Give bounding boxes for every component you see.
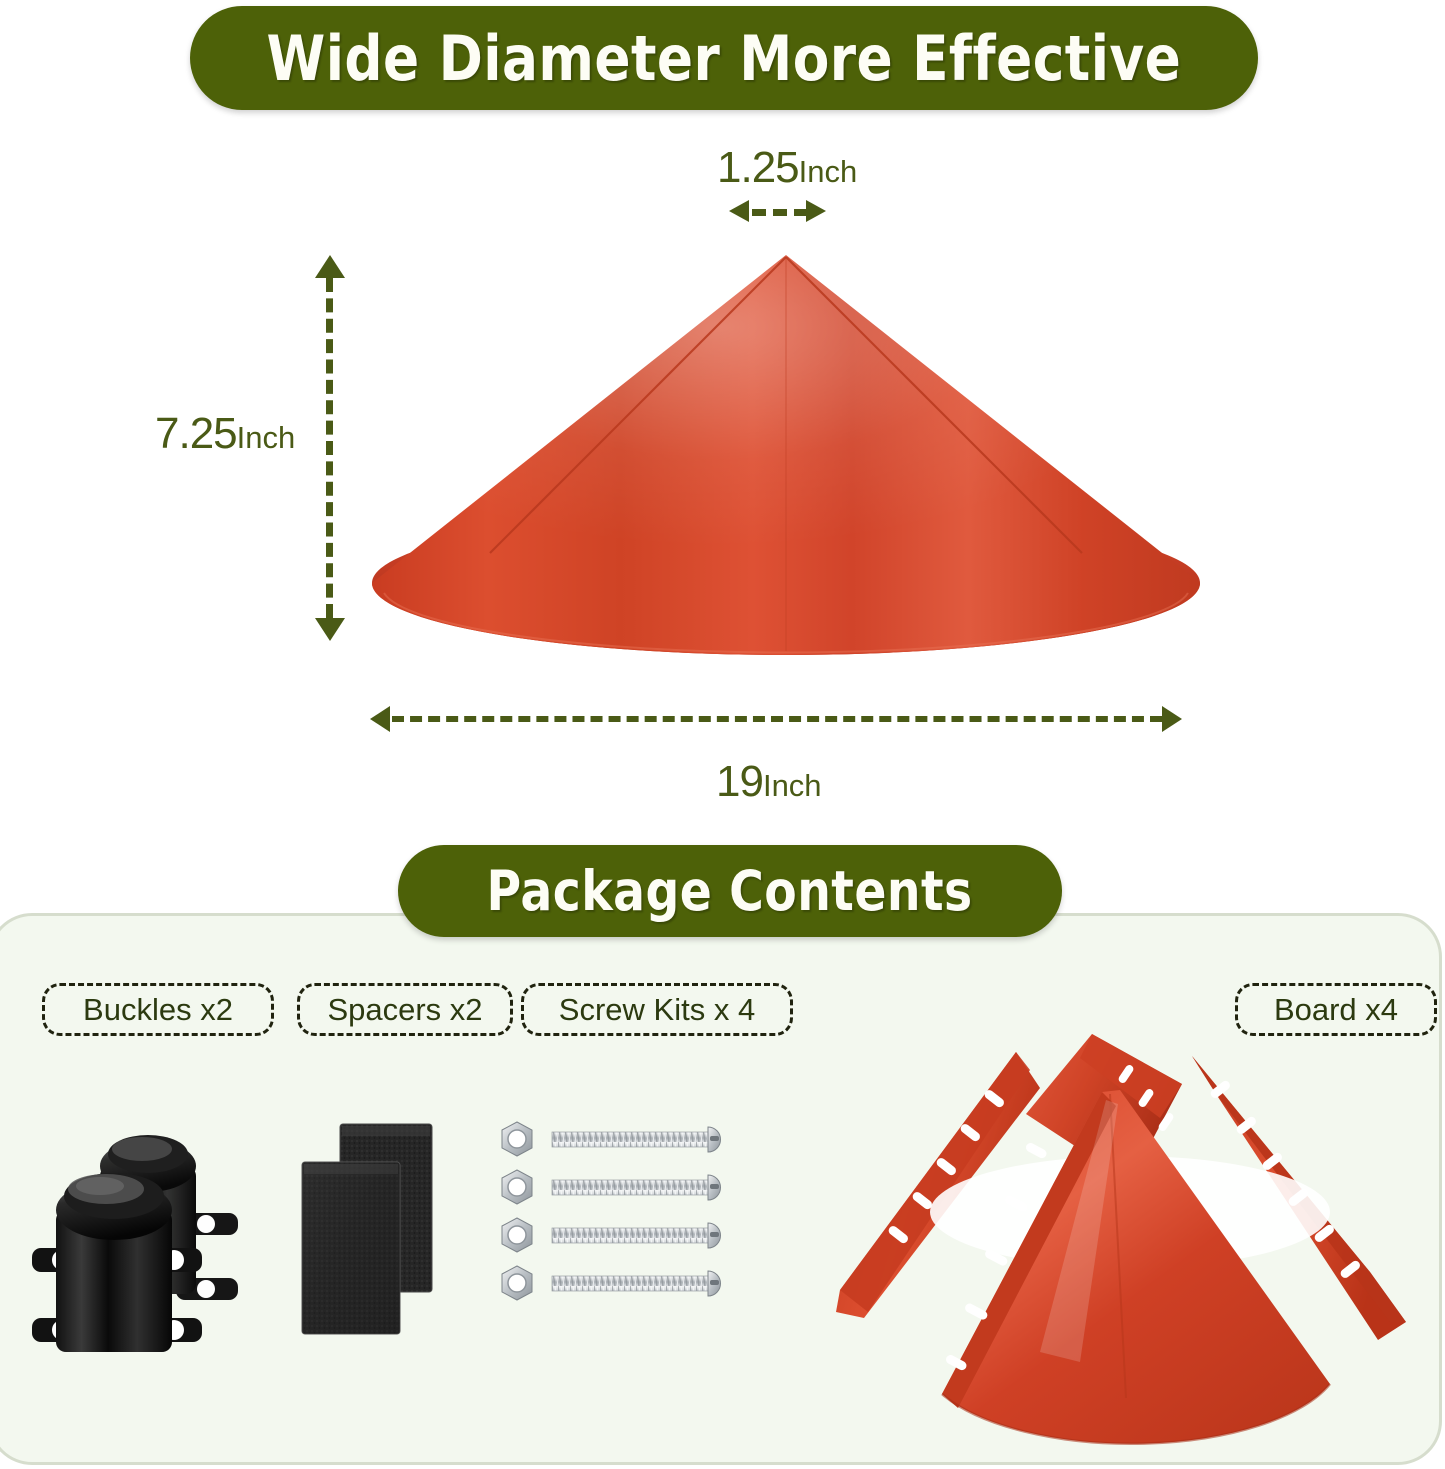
height-arrow-line: [326, 278, 333, 618]
item-label-screw-kits: Screw Kits x 4: [521, 983, 793, 1036]
height-arrow-up-head: [315, 255, 345, 278]
item-label-spacers: Spacers x2: [297, 983, 513, 1036]
width-unit: Inch: [799, 154, 858, 189]
package-contents-banner: Package Contents: [398, 845, 1062, 937]
height-measurement-label: 7.25Inch: [155, 409, 295, 459]
board-panels-image: [830, 1022, 1420, 1462]
diameter-arrow-left-head: [370, 706, 390, 732]
red-cone-panel-icon: [830, 1022, 1420, 1462]
diameter-measurement-label: 19Inch: [716, 757, 822, 807]
diameter-unit: Inch: [763, 768, 822, 803]
page-title: Wide Diameter More Effective: [267, 22, 1182, 95]
title-banner: Wide Diameter More Effective: [190, 6, 1258, 110]
width-arrow-line: [752, 209, 808, 216]
width-measurement-label: 1.25Inch: [717, 143, 857, 193]
spacers-image: [296, 1120, 466, 1360]
red-cone-baffle-icon: [370, 253, 1202, 657]
black-foam-spacer-icon: [296, 1120, 466, 1360]
width-arrow-left-head: [729, 200, 749, 222]
black-buckle-icon: [28, 1118, 280, 1388]
diameter-value: 19: [716, 757, 763, 806]
screw-and-nut-icon: [498, 1118, 744, 1314]
height-arrow-down-head: [315, 618, 345, 641]
height-value: 7.25: [155, 409, 237, 458]
item-label-buckles: Buckles x2: [42, 983, 274, 1036]
width-arrow-right-head: [806, 200, 826, 222]
diameter-arrow-line: [392, 716, 1162, 722]
width-value: 1.25: [717, 143, 799, 192]
diameter-arrow-right-head: [1162, 706, 1182, 732]
height-unit: Inch: [237, 420, 296, 455]
cone-product-image: [370, 253, 1202, 657]
screw-kits-image: [498, 1118, 744, 1314]
package-title: Package Contents: [487, 859, 973, 923]
buckles-image: [28, 1118, 280, 1388]
